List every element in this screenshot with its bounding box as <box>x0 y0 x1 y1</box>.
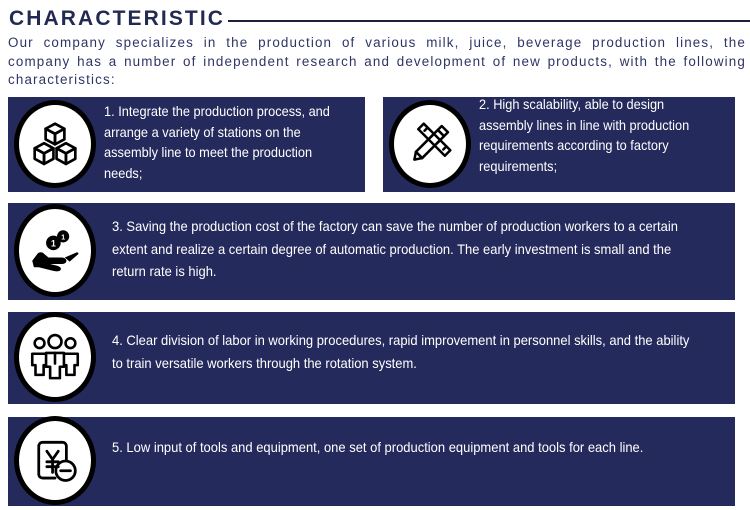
characteristic-card-4-text: 4. Clear division of labor in working pr… <box>112 330 690 375</box>
characteristic-card-2-text: 2. High scalability, able to design asse… <box>479 95 719 177</box>
stacked-cubes-icon <box>14 100 96 188</box>
characteristic-infographic: CHARACTERISTIC Our company specializes i… <box>0 0 750 510</box>
characteristic-card-5-text: 5. Low input of tools and equipment, one… <box>112 437 690 460</box>
page-header: CHARACTERISTIC <box>0 6 750 32</box>
three-people-group-icon <box>14 312 96 402</box>
characteristic-card-3-text: 3. Saving the production cost of the fac… <box>112 216 690 284</box>
page-title: CHARACTERISTIC <box>0 7 225 31</box>
pencil-ruler-icon <box>389 100 471 188</box>
hand-holding-coins-icon: 1 1 <box>14 204 96 297</box>
intro-paragraph: Our company specializes in the productio… <box>8 34 746 90</box>
svg-text:1: 1 <box>61 232 65 241</box>
characteristic-card-1-text: 1. Integrate the production process, and… <box>104 102 344 184</box>
characteristic-card-5 <box>8 417 735 506</box>
yen-document-minus-icon <box>14 416 96 505</box>
title-divider-rule <box>228 20 750 22</box>
svg-text:1: 1 <box>51 238 56 248</box>
